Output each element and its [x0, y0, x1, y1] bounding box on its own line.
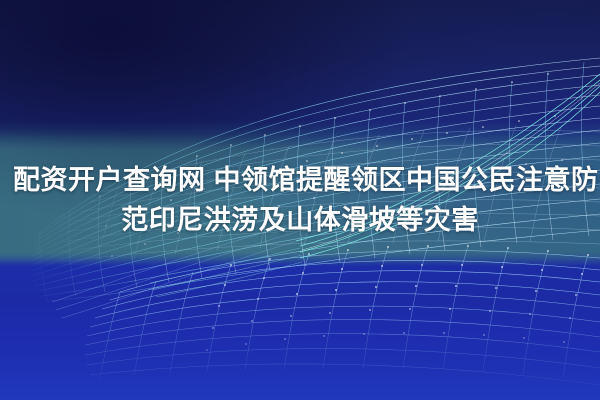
headline-line-1: 配资开户查询网 中领馆提醒领区中国公民注意防	[0, 160, 600, 200]
headline: 配资开户查询网 中领馆提醒领区中国公民注意防 范印尼洪涝及山体滑坡等灾害	[0, 160, 600, 240]
mesh-lower-surface	[85, 245, 600, 385]
headline-line-2: 范印尼洪涝及山体滑坡等灾害	[0, 200, 600, 240]
banner-image: 配资开户查询网 中领馆提醒领区中国公民注意防 范印尼洪涝及山体滑坡等灾害	[0, 0, 600, 400]
